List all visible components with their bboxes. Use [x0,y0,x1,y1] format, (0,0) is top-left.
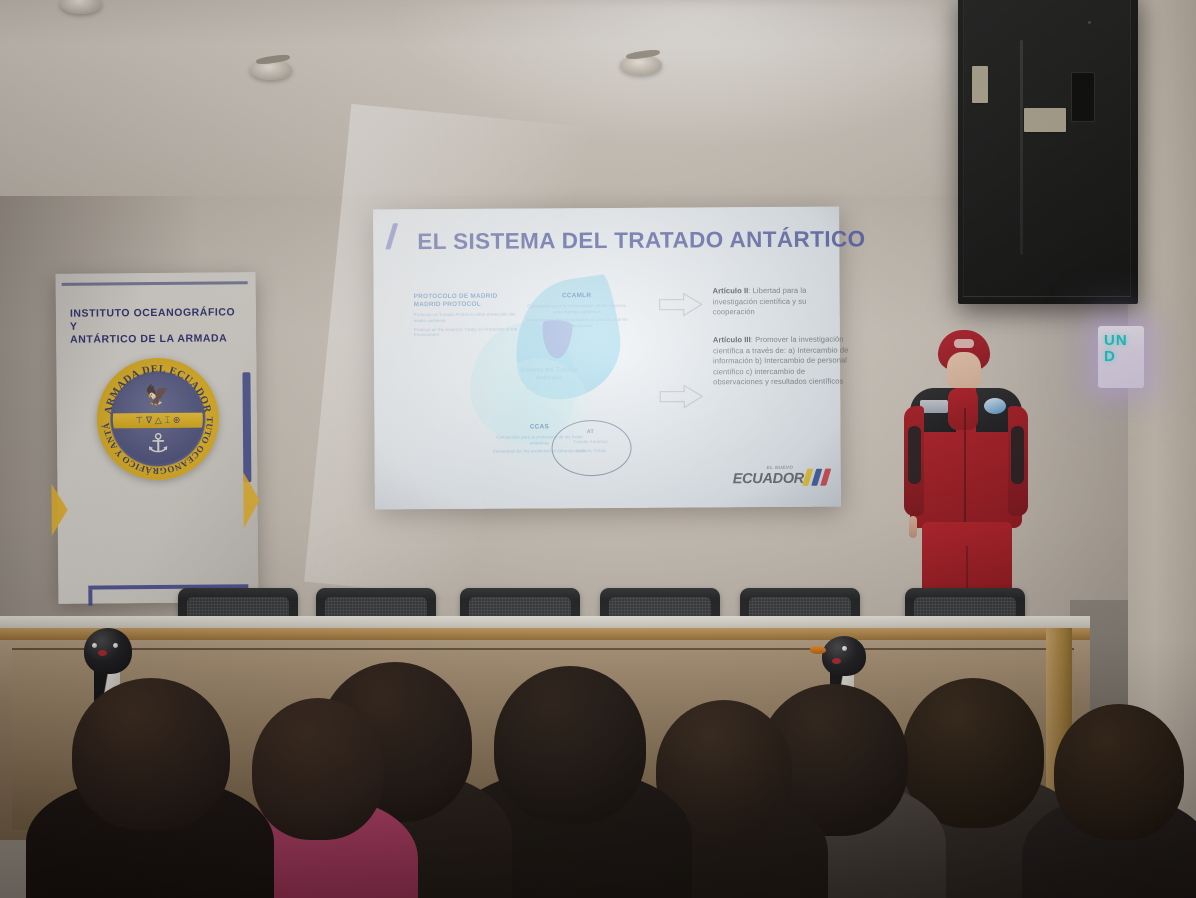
sleeve-panel-right [1011,426,1024,484]
display-indicator-led [1088,21,1091,24]
ceiling-light-wash [380,0,1020,150]
ccamlr-heading: CCAMLR [522,292,632,301]
ccamlr-line-es: Convención para la conservación de los r… [522,303,632,315]
banner-bottom-rule-tick [88,590,92,606]
diagram-label-ccamlr: CCAMLR Convención para la conservación d… [522,292,632,329]
diagram-label-at: AT Tratado Antártico Antarctic Treaty [554,428,626,454]
at-heading: AT [554,428,626,437]
attendee-head [252,698,384,840]
ecuador-government-logo: EL NUEVO ECUADOR [733,465,833,494]
banner-title-line-1: INSTITUTO OCEANOGRÁFICO Y [70,306,235,332]
flag-bar-red [820,469,831,486]
backlit-sign-line-1: UN [1098,332,1150,349]
attendee-head [1054,704,1184,840]
ceiling-spotlight [620,55,662,75]
jacket-collar [948,388,978,430]
banner-title: INSTITUTO OCEANOGRÁFICO Y ANTÁRTICO DE L… [70,306,246,347]
arrow-right-icon [658,383,704,409]
slide-title: EL SISTEMA DEL TRATADO ANTÁRTICO [417,227,821,255]
ecuador-flag-bars-icon [805,469,835,486]
article-2-label: Artículo II [713,286,749,295]
seal-inner-disc: 🦅 ⊤ ∇ △ ⌶ ⊛ ⚓ [112,374,203,465]
wall-mounted-display [958,0,1138,304]
penguin-head [822,636,866,676]
at-line-es: Tratado Antártico [554,439,626,445]
seal-anchor-icon: ⚓ [141,428,175,460]
mannequin-hand [909,516,917,538]
display-spec-label [1024,108,1066,132]
penguin-eye [92,643,97,648]
display-port-recess [1071,72,1095,122]
slide-article-3: Artículo III: Promover la investigación … [713,335,849,389]
penguin-beak [810,646,826,654]
display-panel-seam [1020,40,1023,255]
ceiling-spotlight [250,60,292,80]
projection-screen: EL SISTEMA DEL TRATADO ANTÁRTICO PROTOCO… [373,207,841,510]
antarctic-gear-mannequin [900,330,1032,630]
ccamlr-line-en: Convention on the conservation of antarc… [522,317,632,329]
penguin-eye [113,643,118,648]
sleeve-panel-left [908,426,921,484]
banner-title-line-2: ANTÁRTICO DE LA ARMADA [70,332,227,345]
diagram-label-center: Sistema del Tratado Antártico Antarctic … [508,366,590,392]
penguin-cheek-marking [832,658,841,664]
arrow-right-icon [658,291,704,317]
ecuador-logo-tagline: EL NUEVO [767,465,794,470]
jacket-zipper [964,408,966,526]
jacket-name-patch [920,400,948,413]
ecuador-logo-word: ECUADOR [733,471,804,487]
presentation-photo-scene: UN D EL SISTEMA DEL TRATADO ANTÁRTICO PR… [0,0,1196,898]
beanie-logo-patch [954,339,974,348]
at-line-en: Antarctic Treaty [555,448,627,454]
attendee-head [494,666,646,824]
banner-top-rule [62,281,248,286]
ceiling-spotlight [60,0,102,14]
center-line: Antarctic Treaty System [508,386,590,392]
madrid-heading-en: MADRID PROTOCOL [414,301,526,310]
banner-blue-edge-accent [242,372,251,482]
penguin-head [84,628,132,674]
article-3-label: Artículo III [713,335,751,344]
madrid-line-es: Protocolo al Tratado Antártico sobre pro… [414,312,526,324]
jacket-oval-logo-patch [984,398,1006,414]
navy-institute-seal: ARMADA DEL ECUADOR INSTITUTO OCEANOGRÁFI… [96,357,219,480]
banner-chevron-left-icon [51,484,67,536]
attendee-head [72,678,230,830]
banner-chevron-right-icon [243,472,259,528]
display-sticker-small [972,66,988,103]
penguin-cheek-marking [98,650,107,656]
seal-eagle-icon: 🦅 [127,382,189,409]
center-heading: Sistema del Tratado Antártico [508,366,590,383]
audience-member [52,678,252,898]
penguin-eye [842,646,847,651]
backlit-sign: UN D [1098,326,1144,388]
slide-article-2: Artículo II: Libertad para la investigac… [713,286,845,319]
backlit-sign-line-2: D [1098,348,1150,365]
audience-member [1032,698,1196,898]
display-back-panel [963,0,1131,297]
seal-glyph-band: ⊤ ∇ △ ⌶ ⊛ [112,413,203,429]
madrid-line-en: Protocol on the Antarctic Treaty on Prot… [414,326,526,338]
diagram-label-madrid: PROTOCOLO DE MADRID MADRID PROTOCOL Prot… [414,292,526,337]
rollup-banner: INSTITUTO OCEANOGRÁFICO Y ANTÁRTICO DE L… [56,272,259,604]
